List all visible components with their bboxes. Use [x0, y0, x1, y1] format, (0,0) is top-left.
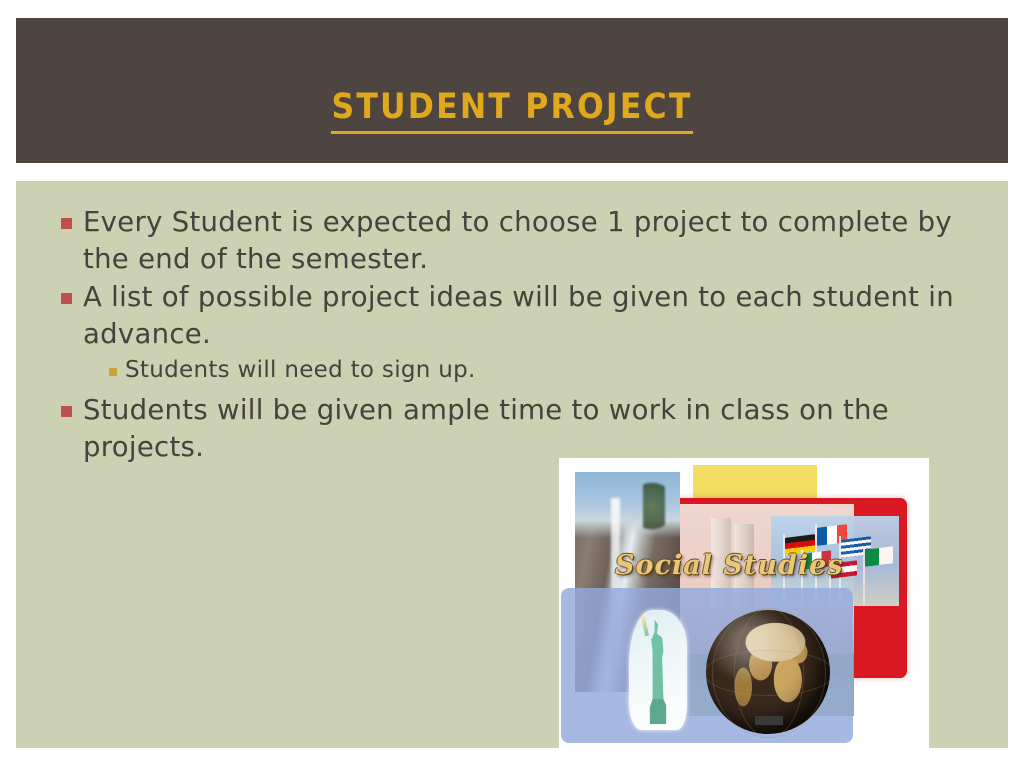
page-title: STUDENT PROJECT [16, 90, 1008, 125]
list-item: Students will be given ample time to wor… [61, 392, 991, 465]
list-item: Every Student is expected to choose 1 pr… [61, 204, 991, 277]
social-studies-collage-image: Social Studies [559, 458, 929, 748]
bullet-list: Every Student is expected to choose 1 pr… [61, 204, 991, 467]
list-item-label: A list of possible project ideas will be… [83, 279, 963, 352]
globe-parallel [704, 650, 834, 696]
flag-generic-icon [865, 546, 893, 566]
title-banner: STUDENT PROJECT [16, 18, 1008, 163]
cliff-foliage [643, 476, 665, 536]
list-item-label: Every Student is expected to choose 1 pr… [83, 204, 963, 277]
bullet-square-small-icon [109, 368, 117, 376]
list-item-sub-label: Students will need to sign up. [125, 356, 476, 386]
list-item: A list of possible project ideas will be… [61, 279, 991, 352]
page-title-text: STUDENT PROJECT [331, 87, 692, 134]
collage-caption: Social Studies [615, 550, 845, 581]
globe-base [755, 716, 783, 725]
list-item-sub: Students will need to sign up. [109, 356, 991, 386]
slide-body-panel: Every Student is expected to choose 1 pr… [16, 181, 1008, 748]
bullet-square-icon [61, 218, 72, 229]
bullet-square-icon [61, 406, 72, 417]
bullet-square-icon [61, 293, 72, 304]
presentation-slide: STUDENT PROJECT Every Student is expecte… [16, 18, 1008, 748]
list-item-label: Students will be given ample time to wor… [83, 392, 963, 465]
